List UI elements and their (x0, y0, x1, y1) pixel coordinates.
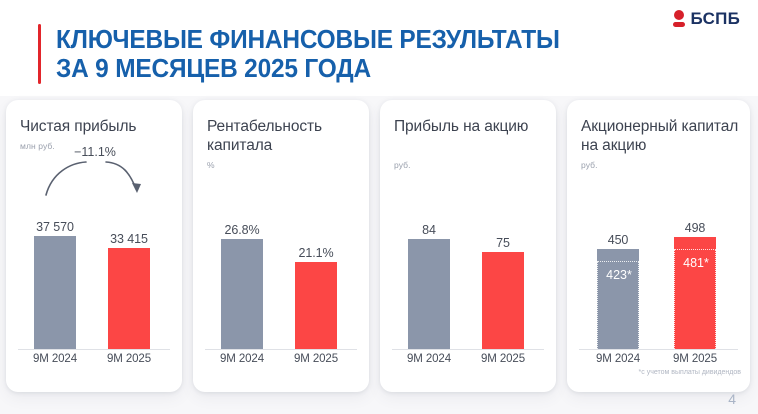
bar-value-current: 21.1% (276, 246, 356, 260)
card-title: Прибыль на акцию (394, 117, 554, 136)
bar-previous (221, 239, 263, 349)
title-accent-bar (38, 24, 41, 84)
metric-cards-row: Чистая прибыль млн руб. −11.1% 37 570 33… (0, 96, 758, 396)
bar-inner-value-previous: 423* (598, 268, 640, 282)
bar-value-previous: 37 570 (15, 220, 95, 234)
bar-current: 481* (674, 237, 716, 349)
x-tick-current: 9M 2025 (89, 353, 169, 365)
card-title: Чистая прибыль (20, 117, 180, 136)
bar-value-previous: 84 (389, 223, 469, 237)
bar-value-current: 75 (463, 236, 543, 250)
x-axis-labels: 9M 2024 9M 2025 (390, 353, 546, 369)
chart-baseline (205, 349, 357, 350)
bar-value-previous: 26.8% (202, 223, 282, 237)
page-title-line-1: КЛЮЧЕВЫЕ ФИНАНСОВЫЕ РЕЗУЛЬТАТЫ (56, 25, 601, 54)
x-tick-previous: 9M 2024 (578, 353, 658, 365)
x-axis-labels: 9M 2024 9M 2025 (203, 353, 359, 369)
card-title: Рентабельность капитала (207, 117, 367, 155)
metric-card-equity-per-share: Акционерный капитал на акцию руб. 450 42… (567, 100, 750, 392)
bar-chart: 37 570 33 415 (16, 170, 172, 350)
card-title: Акционерный капитал на акцию (581, 117, 749, 155)
bar-inner-value-current: 481* (675, 256, 717, 270)
chart-baseline (579, 349, 738, 350)
logo-base-shape (673, 22, 685, 27)
bar-previous: 423* (597, 249, 639, 349)
bar-value-current: 33 415 (89, 232, 169, 246)
x-tick-previous: 9M 2024 (202, 353, 282, 365)
x-tick-previous: 9M 2024 (15, 353, 95, 365)
bar-current (482, 252, 524, 349)
bar-value-current: 498 (655, 221, 735, 235)
metric-card-earnings-per-share: Прибыль на акцию руб. 84 75 9M 2024 9M 2… (380, 100, 556, 392)
metric-card-net-profit: Чистая прибыль млн руб. −11.1% 37 570 33… (6, 100, 182, 392)
bar-inner-segment-previous: 423* (597, 261, 639, 349)
chart-baseline (18, 349, 170, 350)
chart-baseline (392, 349, 544, 350)
bar-inner-segment-current: 481* (674, 249, 716, 349)
page-title: КЛЮЧЕВЫЕ ФИНАНСОВЫЕ РЕЗУЛЬТАТЫ ЗА 9 МЕСЯ… (56, 25, 636, 83)
bar-previous (408, 239, 450, 349)
bspb-mark-icon (673, 10, 685, 28)
x-tick-current: 9M 2025 (276, 353, 356, 365)
card-footnote: *с учетом выплаты дивидендов (621, 368, 741, 377)
card-unit: руб. (581, 160, 598, 170)
bar-chart: 84 75 (390, 170, 546, 350)
bar-chart: 450 423* 498 481* (577, 170, 740, 350)
logo-text: БСПБ (690, 9, 740, 29)
metric-card-return-on-equity: Рентабельность капитала % 26.8% 21.1% 9M… (193, 100, 369, 392)
bar-current (108, 248, 150, 349)
card-unit: руб. (394, 160, 411, 170)
x-tick-current: 9M 2025 (463, 353, 543, 365)
bar-current (295, 262, 337, 349)
logo-dot-shape (674, 10, 684, 20)
bar-previous (34, 236, 76, 349)
page-title-line-2: ЗА 9 МЕСЯЦЕВ 2025 ГОДА (56, 54, 601, 83)
page-number: 4 (728, 391, 736, 407)
x-tick-current: 9M 2025 (655, 353, 735, 365)
bar-chart: 26.8% 21.1% (203, 170, 359, 350)
bspb-logo: БСПБ (673, 9, 740, 29)
x-axis-labels: 9M 2024 9M 2025 (577, 353, 740, 369)
page-header: КЛЮЧЕВЫЕ ФИНАНСОВЫЕ РЕЗУЛЬТАТЫ ЗА 9 МЕСЯ… (0, 0, 758, 96)
bar-value-previous: 450 (578, 233, 658, 247)
x-tick-previous: 9M 2024 (389, 353, 469, 365)
x-axis-labels: 9M 2024 9M 2025 (16, 353, 172, 369)
card-unit: % (207, 160, 215, 170)
